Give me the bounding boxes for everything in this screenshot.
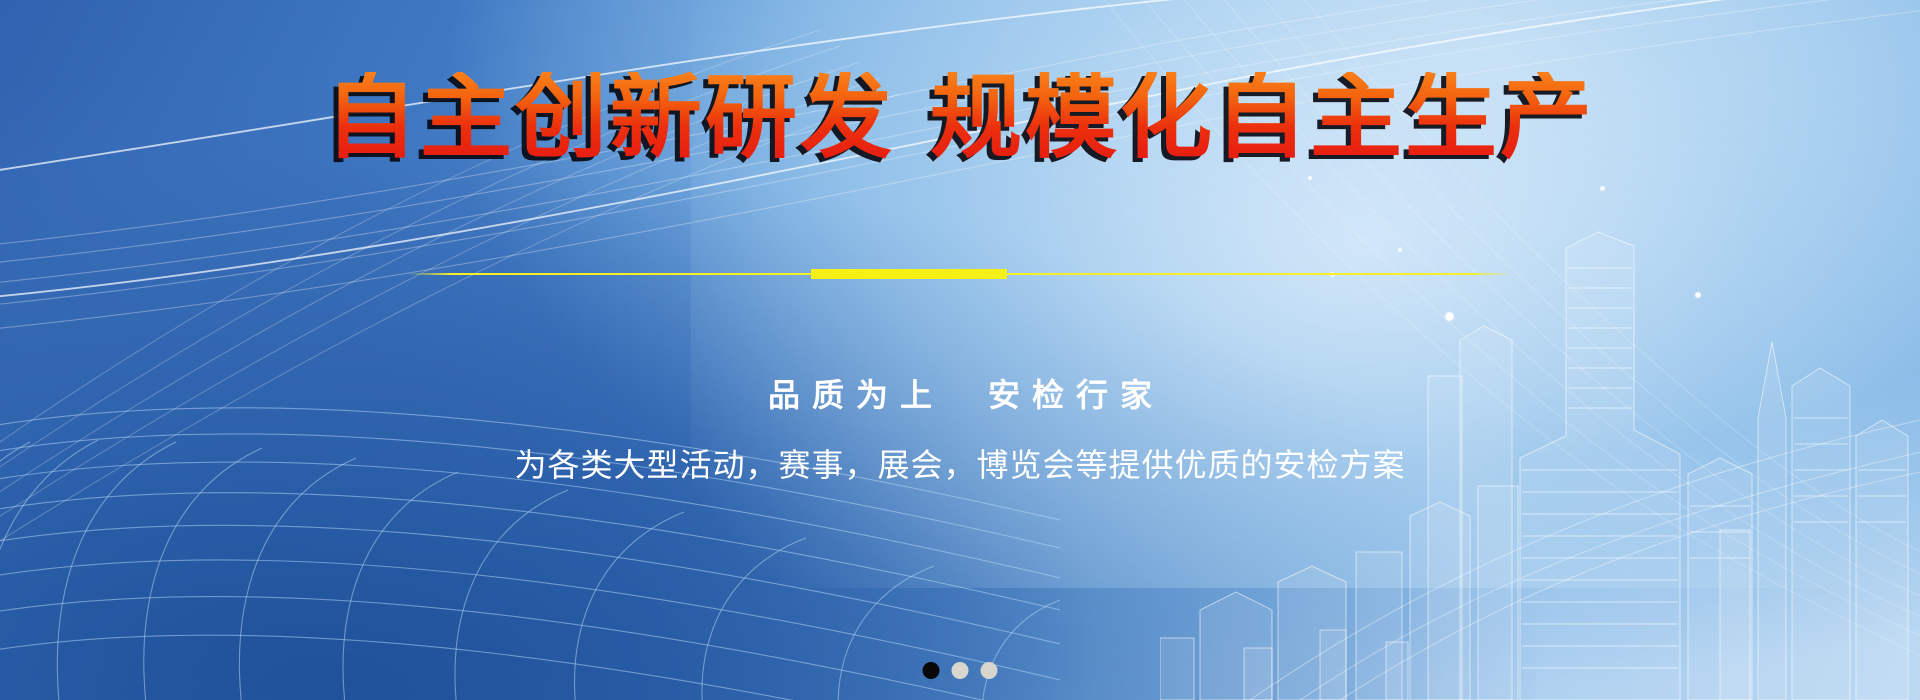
sparkle-dot [1398,248,1402,252]
sparkle-dot [1308,176,1312,180]
yellow-divider [407,268,1513,280]
carousel-dot-1[interactable] [923,662,940,679]
carousel-indicator[interactable] [923,662,998,679]
curved-wire-mesh-decoration [0,300,1060,700]
divider-thick-accent [811,269,1007,279]
sparkle-dot [1600,186,1605,191]
sparkle-dot [1695,292,1701,298]
banner-description: 为各类大型活动，赛事，展会，博览会等提供优质的安检方案 [0,440,1920,486]
banner-headline: 自主创新研发 规模化自主生产 [0,72,1920,164]
sparkle-dot [1445,312,1454,321]
hero-banner: 自主创新研发 规模化自主生产 品质为上 安检行家 为各类大型活动，赛事，展会，博… [0,0,1920,700]
banner-slogan: 品质为上 安检行家 [0,370,1920,416]
carousel-dot-2[interactable] [952,662,969,679]
carousel-dot-3[interactable] [981,662,998,679]
